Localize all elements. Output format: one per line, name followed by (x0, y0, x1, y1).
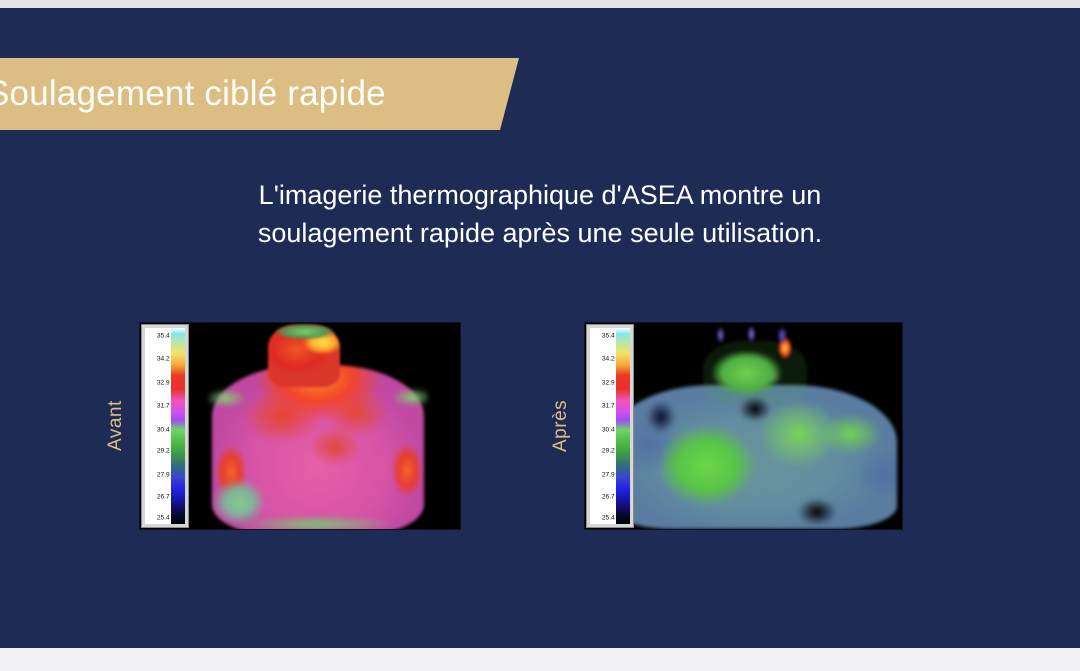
panel-label-before: Avant (105, 323, 127, 529)
thermal-dark-patch (643, 397, 679, 437)
colorbar-tick: 32.9 (602, 379, 615, 386)
colorbar-gradient-after (616, 328, 630, 524)
panel-after: Après 35.4 34.2 32.9 31.7 (550, 322, 903, 530)
thermal-dark-patch (793, 495, 841, 529)
thermal-hairline (703, 323, 813, 347)
bottom-edge-strip (0, 648, 1080, 671)
panel-before: Avant 35.4 34.2 32.9 31.7 3 (105, 322, 461, 530)
thermal-lower-rim (214, 513, 420, 530)
colorbar-tick: 26.7 (602, 493, 615, 500)
thermal-hairline (270, 323, 340, 339)
colorbar-tick: 31.7 (602, 403, 615, 410)
temperature-colorbar-after: 35.4 34.2 32.9 31.7 30.4 29.2 27.9 26.7 … (586, 324, 634, 528)
colorbar-tick: 30.4 (602, 426, 615, 433)
colorbar-tick: 29.2 (602, 448, 615, 455)
subtitle-line-1: L'imagerie thermographique d'ASEA montre… (0, 176, 1080, 214)
panel-label-after: Après (550, 323, 572, 529)
colorbar-tick: 30.4 (157, 426, 170, 433)
colorbar-tick: 25.4 (157, 515, 170, 522)
colorbar-tick: 35.4 (157, 332, 170, 339)
colorbar-tick: 34.2 (157, 356, 170, 363)
colorbar-tick-labels-before: 35.4 34.2 32.9 31.7 30.4 29.2 27.9 26.7 … (145, 328, 171, 524)
page-title: Soulagement ciblé rapide (0, 74, 386, 114)
colorbar-tick: 34.2 (602, 356, 615, 363)
title-banner: Soulagement ciblé rapide (0, 58, 519, 130)
colorbar-tick-labels-after: 35.4 34.2 32.9 31.7 30.4 29.2 27.9 26.7 … (590, 328, 616, 524)
thermal-image-after: 35.4 34.2 32.9 31.7 30.4 29.2 27.9 26.7 … (584, 322, 903, 530)
subtitle-block: L'imagerie thermographique d'ASEA montre… (0, 176, 1080, 252)
thermal-image-before: 35.4 34.2 32.9 31.7 30.4 29.2 27.9 26.7 … (139, 322, 461, 530)
slide-root: Soulagement ciblé rapide L'imagerie ther… (0, 0, 1080, 671)
thermal-dark-patch (735, 393, 775, 425)
thermal-shoulder-rim (208, 371, 428, 415)
temperature-colorbar-before: 35.4 34.2 32.9 31.7 30.4 29.2 27.9 26.7 … (141, 324, 189, 528)
colorbar-tick: 27.9 (602, 472, 615, 479)
colorbar-tick: 25.4 (602, 515, 615, 522)
colorbar-tick: 26.7 (157, 493, 170, 500)
subtitle-line-2: soulagement rapide après une seule utili… (0, 214, 1080, 252)
colorbar-tick: 31.7 (157, 403, 170, 410)
top-edge-strip (0, 0, 1080, 8)
colorbar-tick: 29.2 (157, 448, 170, 455)
colorbar-tick: 35.4 (602, 332, 615, 339)
colorbar-gradient-before (171, 328, 185, 524)
colorbar-tick: 32.9 (157, 379, 170, 386)
colorbar-tick: 27.9 (157, 472, 170, 479)
slide-canvas: Soulagement ciblé rapide L'imagerie ther… (0, 8, 1080, 648)
